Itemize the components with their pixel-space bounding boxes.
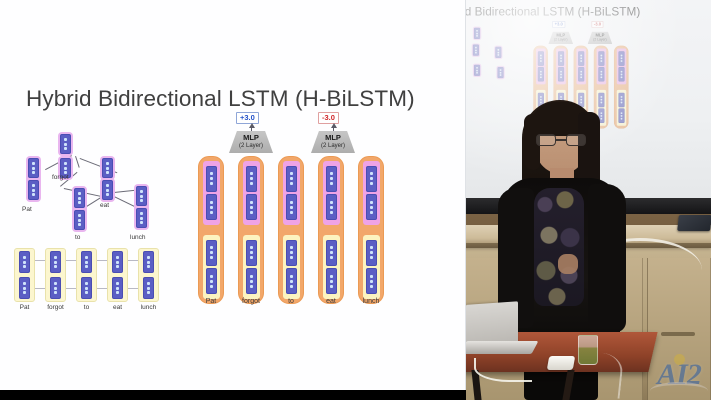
- tree-label-pat: Pat: [22, 206, 32, 213]
- score-arrow-up-icon: [331, 123, 337, 128]
- tree-node-right-1: [100, 156, 115, 180]
- bilstm-forward-link: [97, 288, 107, 289]
- mlp-subtitle: (2 Layer): [321, 142, 345, 151]
- bilstm-forward-link: [128, 288, 138, 289]
- bilstm-label-forgot: forgot: [42, 304, 69, 311]
- tree-label-to: to: [75, 234, 80, 241]
- bilstm-backward-link: [97, 260, 107, 261]
- mlp-title: MLP: [243, 133, 259, 142]
- tree-lstm-segment: [283, 161, 300, 225]
- ai2-watermark: AI2: [648, 352, 710, 398]
- hbilstm-columns-diagram: +3.0 MLP (2 Layer) -3.0 MLP (2 Layer): [190, 112, 390, 312]
- bilstm-forward-link: [35, 288, 45, 289]
- bilstm-column: [76, 248, 97, 302]
- mlp-subtitle: (2 Layer): [239, 142, 263, 151]
- tree-label-lunch: lunch: [130, 234, 146, 241]
- bilstm-backward-link: [128, 260, 138, 261]
- hbilstm-column-to: [278, 156, 304, 304]
- bilstm-segment: [243, 235, 260, 299]
- bilstm-segment: [363, 235, 380, 299]
- score-arrow-up-icon: [249, 123, 255, 128]
- bilstm-segment: [283, 235, 300, 299]
- slide-title: Hybrid Bidirectional LSTM (H-BiLSTM): [26, 86, 415, 112]
- hbilstm-column-forgot: [238, 156, 264, 304]
- presenter-shoulder-right: [588, 184, 626, 332]
- cabinet-handle: [661, 332, 695, 336]
- bottom-black-bar: [0, 390, 466, 400]
- hbilstm-label-pat: Pat: [190, 298, 232, 305]
- hbilstm-label-to: to: [270, 298, 312, 305]
- bilstm-segment: [203, 235, 220, 299]
- hbilstm-column-pat: [198, 156, 224, 304]
- projected-slide-title: Hybrid Bidirectional LSTM (H-BiLSTM): [455, 5, 640, 18]
- bilstm-column: [138, 248, 159, 302]
- tree-node-root: [58, 132, 73, 156]
- tree-node-pat: [26, 156, 41, 202]
- bilstm-forward-link: [66, 288, 76, 289]
- bilstm-label-pat: Pat: [11, 304, 38, 311]
- mlp-box-positive: MLP (2 Layer): [229, 131, 273, 153]
- bilstm-segment: [323, 235, 340, 299]
- tree-node-right-2: [100, 178, 115, 202]
- phone-on-counter: [677, 215, 711, 231]
- tree-lstm-segment: [203, 161, 220, 225]
- tree-label-eat: eat: [100, 202, 109, 209]
- slide-capture-panel: Hybrid Bidirectional LSTM (H-BiLSTM): [0, 0, 466, 390]
- bilstm-backward-link: [66, 260, 76, 261]
- bilstm-label-eat: eat: [104, 304, 131, 311]
- projected-score-negative: -3.0: [592, 21, 604, 28]
- tree-label-forgot: forgot: [52, 174, 69, 181]
- bilstm-layer-diagram: Pat forgot to eat lunch: [14, 248, 166, 314]
- projected-mlp-subtitle: (2 Layer): [554, 38, 567, 43]
- hbilstm-label-eat: eat: [310, 298, 352, 305]
- watermark-swoosh: [650, 382, 708, 400]
- constituency-tree-diagram: Pat forgot to eat lunch: [14, 132, 166, 250]
- tree-lstm-segment: [323, 161, 340, 225]
- bilstm-column: [45, 248, 66, 302]
- screenshot-stage: Hybrid Bidirectional LSTM (H-BiLSTM) +3.…: [0, 0, 711, 400]
- hbilstm-label-forgot: forgot: [230, 298, 272, 305]
- hbilstm-label-lunch: lunch: [350, 298, 392, 305]
- hbilstm-column-eat: [318, 156, 344, 304]
- watermark-dot: [674, 354, 685, 365]
- bilstm-label-to: to: [73, 304, 100, 311]
- tree-node-lunch: [134, 184, 149, 230]
- projected-mlp-subtitle-2: (2 Layer): [593, 38, 606, 43]
- bilstm-backward-link: [35, 260, 45, 261]
- tree-lstm-segment: [243, 161, 260, 225]
- mlp-box-negative: MLP (2 Layer): [311, 131, 355, 153]
- projected-score-positive: +3.0: [552, 21, 565, 28]
- tree-node-to: [72, 186, 87, 232]
- presenter-hand: [558, 254, 578, 274]
- score-label-positive: +3.0: [236, 112, 259, 124]
- presenter-glasses: [536, 134, 586, 146]
- bilstm-column: [107, 248, 128, 302]
- laptop-keyboard: [460, 341, 539, 354]
- bilstm-label-lunch: lunch: [135, 304, 162, 311]
- mlp-title: MLP: [325, 133, 341, 142]
- tree-lstm-segment: [363, 161, 380, 225]
- hbilstm-column-lunch: [358, 156, 384, 304]
- presenter-floral-top: [534, 188, 584, 306]
- bilstm-column: [14, 248, 35, 302]
